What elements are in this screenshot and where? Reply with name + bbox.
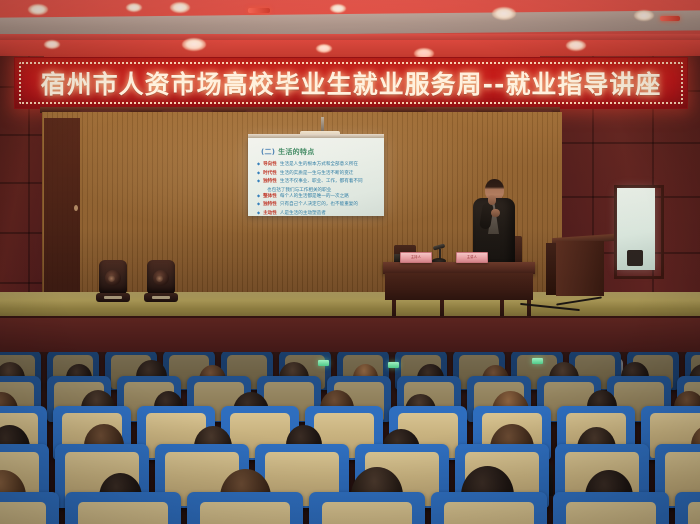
bullet-dot-icon: ◆ (257, 193, 260, 198)
bullet-dot-icon: ◆ (257, 210, 260, 215)
door-knob-icon (74, 205, 78, 211)
seat-cushion (566, 502, 656, 524)
downlight-6 (44, 40, 60, 49)
audience-seating (0, 352, 700, 524)
bullet-label: 整体性 (263, 194, 277, 199)
bullet-label: 独特性 (263, 202, 277, 207)
audience-seat[interactable] (0, 492, 59, 524)
stage-table-skirt (385, 273, 533, 300)
lecturer-hand-upper (488, 195, 496, 205)
moving-head-light-1 (144, 256, 178, 302)
audience-seat[interactable] (65, 492, 181, 524)
projection-screen: (二) 生活的特点 ◆导向性生活是人生的根本方式和全部意义所在◆时代性生活的实质… (248, 138, 384, 216)
seat-cushion (322, 502, 412, 524)
photo-scene: 宿州市人资市场高校毕业生就业服务周--就业指导讲座 (二) 生活的特点 ◆导向性… (0, 0, 700, 524)
bullet-text: 生活是人生的根本方式和全部意义所在 (280, 162, 358, 167)
bullet-text: 生活的实质是一生与生活不断的变迁 (280, 171, 354, 176)
nameplate-text: 主持人 (401, 253, 431, 262)
downlight-8 (316, 44, 332, 53)
seat-cushion (200, 502, 290, 524)
audience-seat[interactable] (187, 492, 303, 524)
seat-cushion (444, 502, 534, 524)
slide-title-paren: (二) (261, 148, 275, 156)
slide-bullet-5: ◆独特性只有自己个人决定它的，也不能重复的 (257, 201, 378, 207)
doorway-object (627, 250, 643, 266)
downlight-1 (126, 3, 142, 12)
bullet-dot-icon: ◆ (257, 178, 260, 183)
nameplate-text: 主讲人 (457, 253, 487, 262)
bullet-dot-icon: ◆ (257, 170, 260, 175)
phone-screen-glow-2 (532, 358, 543, 364)
seat-cushion (78, 502, 168, 524)
slide-title: (二) 生活的特点 (261, 147, 315, 157)
phone-screen-glow-0 (318, 360, 329, 366)
downlight-4 (492, 7, 516, 20)
moving-head-light-0 (96, 256, 130, 302)
bullet-text: 每个人的生活都是唯一的一次之路 (280, 194, 349, 199)
downlight-10 (566, 40, 586, 51)
audience-seat[interactable] (675, 492, 700, 524)
slide-bullet-list: ◆导向性生活是人生的根本方式和全部意义所在◆时代性生活的实质是一生与生活不断的变… (257, 161, 378, 216)
downlight-0 (28, 4, 48, 15)
nameplate-1: 主讲人 (456, 252, 488, 263)
downlight-5 (634, 10, 654, 21)
audience-seat[interactable] (309, 492, 425, 524)
lectern (556, 241, 604, 296)
bullet-text: 生活不仅事业、职业、工作，都有着不同 (280, 179, 363, 184)
downlight-2 (170, 2, 190, 13)
downlight-7 (182, 38, 206, 51)
bullet-label: 独特性 (263, 179, 277, 184)
stage-edge-line (0, 316, 700, 318)
audience-seat[interactable] (431, 492, 547, 524)
downlight-3 (330, 4, 346, 13)
banner-text: 宿州市人资市场高校毕业生就业服务周--就业指导讲座 (15, 65, 687, 101)
bullet-dot-icon: ◆ (257, 201, 260, 206)
red-light-strip-1 (660, 16, 680, 21)
slide-title-text: 生活的特点 (278, 148, 315, 156)
slide-bullet-2: ◆独特性生活不仅事业、职业、工作，都有着不同 (257, 178, 378, 184)
event-banner: 宿州市人资市场高校毕业生就业服务周--就业指导讲座 (14, 57, 688, 109)
seat-cushion (0, 502, 46, 524)
seat-cushion (688, 502, 700, 524)
nameplate-0: 主持人 (400, 252, 432, 263)
bullet-text: 只有自己个人决定它的，也不能重复的 (280, 202, 358, 207)
bullet-label: 时代性 (263, 171, 277, 176)
bullet-dot-icon: ◆ (257, 161, 260, 166)
bullet-label: 主动性 (263, 211, 277, 216)
bullet-label: 导向性 (263, 162, 277, 167)
slide-bullet-1: ◆时代性生活的实质是一生与生活不断的变迁 (257, 170, 378, 176)
phone-screen-glow-1 (388, 362, 399, 368)
red-light-strip-0 (248, 8, 270, 13)
lecturer-hand-lower (491, 209, 500, 217)
bullet-text: 人是生活的主动塑造者 (280, 211, 326, 216)
slide-bullet-4: ◆整体性每个人的生活都是唯一的一次之路 (257, 193, 378, 199)
slide-bullet-6: ◆主动性人是生活的主动塑造者 (257, 210, 378, 216)
audience-seat[interactable] (553, 492, 669, 524)
slide-bullet-0: ◆导向性生活是人生的根本方式和全部意义所在 (257, 161, 378, 167)
